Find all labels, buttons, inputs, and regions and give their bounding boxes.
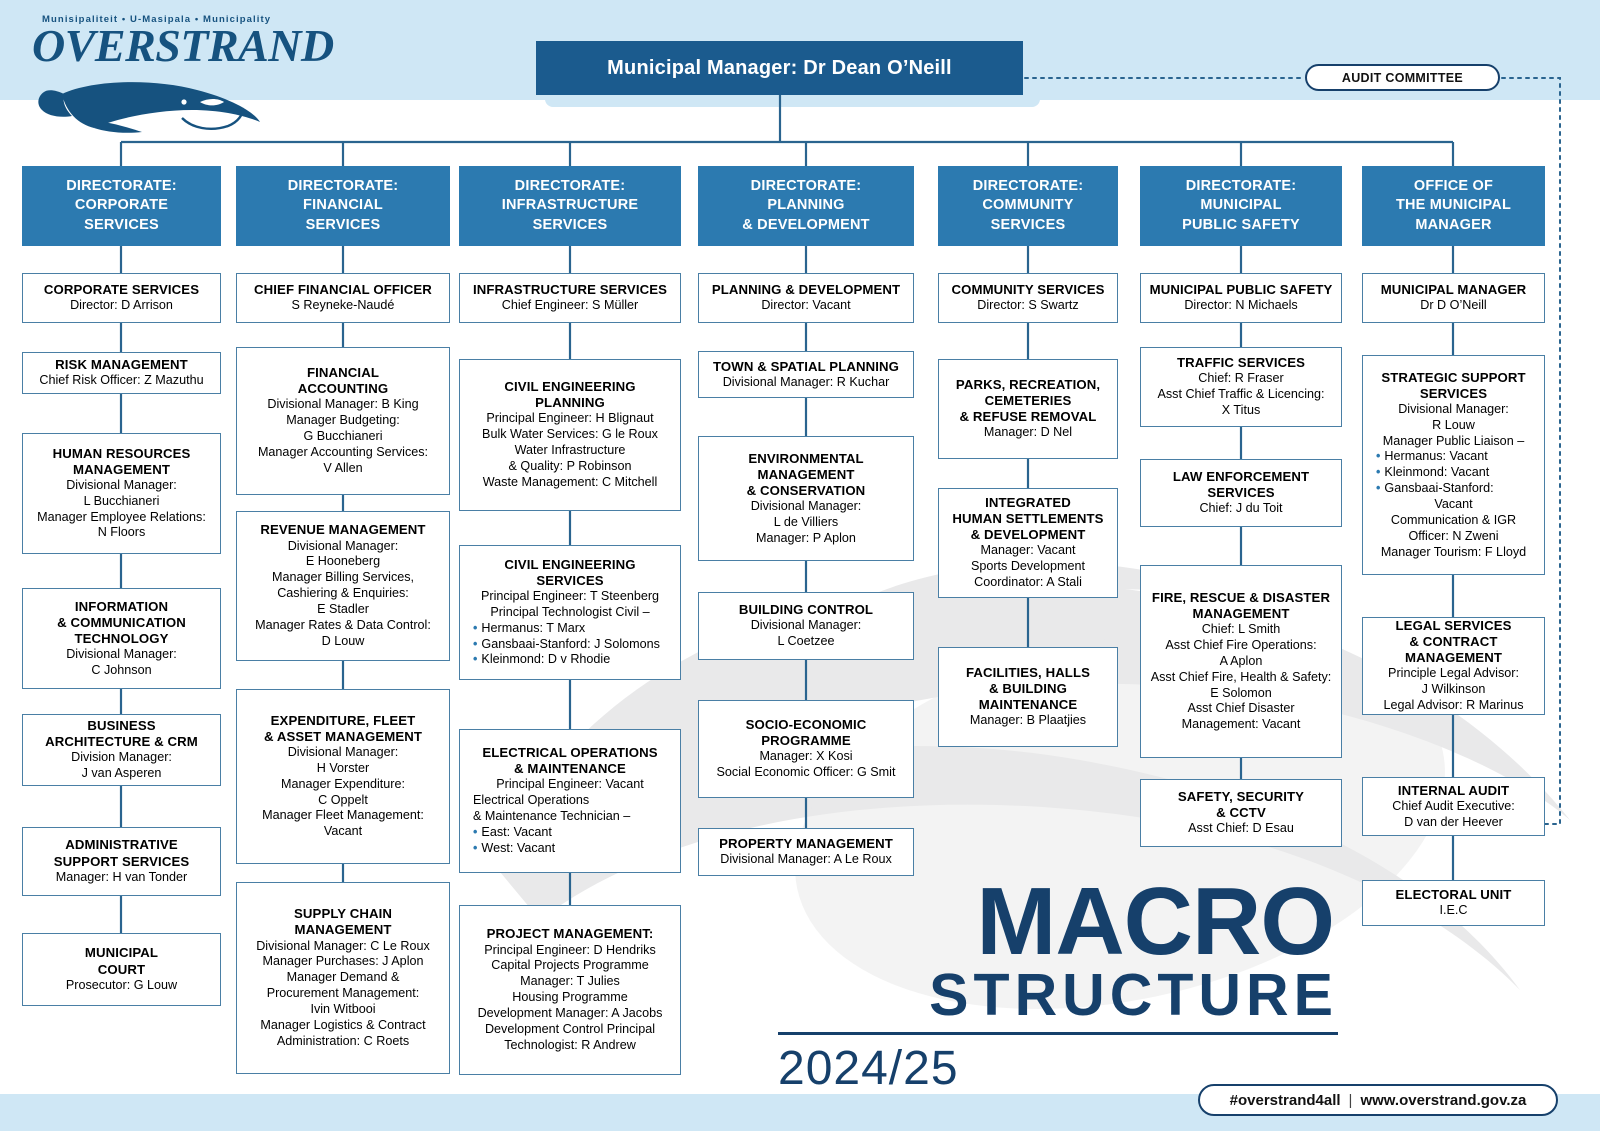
org-node[interactable]: INFORMATION& COMMUNICATIONTECHNOLOGYDivi… (22, 588, 221, 689)
node-detail: Divisional Manager: (705, 618, 907, 634)
node-title: FINANCIALACCOUNTING (243, 365, 443, 397)
node-detail: Asst Chief Fire, Health & Safety: (1147, 670, 1335, 686)
node-detail: Divisional Manager: A Le Roux (705, 852, 907, 868)
org-node[interactable]: RISK MANAGEMENTChief Risk Officer: Z Maz… (22, 352, 221, 394)
org-node[interactable]: BUSINESSARCHITECTURE & CRMDivision Manag… (22, 714, 221, 786)
node-title: BUILDING CONTROL (705, 602, 907, 618)
node-title: TOWN & SPATIAL PLANNING (705, 359, 907, 375)
org-node[interactable]: CHIEF FINANCIAL OFFICERS Reyneke-Naudé (236, 273, 450, 323)
directorate-header-planning-development[interactable]: DIRECTORATE:PLANNING& DEVELOPMENT (698, 166, 914, 246)
node-title: BUSINESSARCHITECTURE & CRM (29, 718, 214, 750)
node-title: STRATEGIC SUPPORTSERVICES (1369, 370, 1538, 402)
node-detail: Ivin Witbooi (243, 1002, 443, 1018)
node-bullet-item: West: Vacant (473, 841, 674, 857)
node-detail: Director: N Michaels (1147, 298, 1335, 314)
node-detail: S Reyneke-Naudé (243, 298, 443, 314)
org-node[interactable]: FINANCIALACCOUNTINGDivisional Manager: B… (236, 347, 450, 495)
node-detail: Principal Technologist Civil – (466, 605, 674, 621)
directorate-header-infrastructure-services[interactable]: DIRECTORATE:INFRASTRUCTURESERVICES (459, 166, 681, 246)
directorate-header-office-municipal-manager[interactable]: OFFICE OFTHE MUNICIPALMANAGER (1362, 166, 1545, 246)
node-detail: Manager Logistics & Contract (243, 1018, 443, 1034)
node-title: SUPPLY CHAINMANAGEMENT (243, 906, 443, 938)
org-node[interactable]: INFRASTRUCTURE SERVICESChief Engineer: S… (459, 273, 681, 323)
org-node[interactable]: BUILDING CONTROLDivisional Manager:L Coe… (698, 592, 914, 660)
node-detail: Asst Chief Disaster (1147, 701, 1335, 717)
org-node[interactable]: TRAFFIC SERVICESChief: R FraserAsst Chie… (1140, 347, 1342, 427)
node-detail: E Hooneberg (243, 554, 443, 570)
node-title: LAW ENFORCEMENTSERVICES (1147, 469, 1335, 501)
org-node[interactable]: LEGAL SERVICES& CONTRACTMANAGEMENTPrinci… (1362, 617, 1545, 715)
dir-label: DIRECTORATE:CORPORATESERVICES (66, 177, 177, 234)
node-title: CORPORATE SERVICES (29, 282, 214, 298)
org-node[interactable]: CIVIL ENGINEERINGPLANNINGPrincipal Engin… (459, 359, 681, 511)
node-detail: Manager: P Aplon (705, 531, 907, 547)
org-node[interactable]: FIRE, RESCUE & DISASTERMANAGEMENTChief: … (1140, 565, 1342, 758)
node-detail: & Quality: P Robinson (466, 459, 674, 475)
node-detail: Manager Purchases: J Aplon (243, 954, 443, 970)
node-detail: Principal Engineer: T Steenberg (466, 589, 674, 605)
node-detail: Director: D Arrison (29, 298, 214, 314)
node-detail: Bulk Water Services: G le Roux (466, 427, 674, 443)
node-title: FACILITIES, HALLS& BUILDINGMAINTENANCE (945, 665, 1111, 713)
org-node[interactable]: ADMINISTRATIVESUPPORT SERVICESManager: H… (22, 827, 221, 896)
macro-structure-poster: Munisipaliteit • U-Masipala • Municipali… (0, 0, 1600, 1131)
org-node[interactable]: HUMAN RESOURCESMANAGEMENTDivisional Mana… (22, 433, 221, 554)
node-detail: Dr D O’Neill (1369, 298, 1538, 314)
node-title: CIVIL ENGINEERINGSERVICES (466, 557, 674, 589)
node-detail: Divisional Manager: (29, 478, 214, 494)
node-detail: Prosecutor: G Louw (29, 978, 214, 994)
node-detail: E Stadler (243, 602, 443, 618)
dir-label: OFFICE OFTHE MUNICIPALMANAGER (1396, 177, 1511, 234)
dir-label: DIRECTORATE:FINANCIALSERVICES (288, 177, 399, 234)
node-detail: Asst Chief Fire Operations: (1147, 638, 1335, 654)
node-title: PARKS, RECREATION,CEMETERIES& REFUSE REM… (945, 377, 1111, 425)
node-detail: Divisional Manager: (243, 539, 443, 555)
org-node[interactable]: INTEGRATEDHUMAN SETTLEMENTS& DEVELOPMENT… (938, 488, 1118, 598)
node-bullets: Hermanus: T MarxGansbaai-Stanford: J Sol… (466, 621, 674, 669)
org-node[interactable]: CIVIL ENGINEERINGSERVICESPrincipal Engin… (459, 545, 681, 680)
org-node[interactable]: PLANNING & DEVELOPMENTDirector: Vacant (698, 273, 914, 323)
org-node[interactable]: FACILITIES, HALLS& BUILDINGMAINTENANCEMa… (938, 647, 1118, 747)
node-detail: Cashiering & Enquiries: (243, 586, 443, 602)
node-detail: Chief Audit Executive: (1369, 799, 1538, 815)
node-detail: Vacant (1369, 497, 1538, 513)
org-node[interactable]: ELECTRICAL OPERATIONS& MAINTENANCEPrinci… (459, 729, 681, 873)
node-detail: Divisional Manager: C Le Roux (243, 939, 443, 955)
footer-separator: | (1349, 1092, 1353, 1109)
node-detail: R Louw (1369, 418, 1538, 434)
footer-contact-pill[interactable]: #overstrand4all | www.overstrand.gov.za (1198, 1084, 1558, 1116)
node-bullet-item: Hermanus: Vacant (1376, 449, 1538, 465)
node-bullet-item: Kleinmond: Vacant (1376, 465, 1538, 481)
node-detail: E Solomon (1147, 686, 1335, 702)
dir-label: DIRECTORATE:PLANNING& DEVELOPMENT (742, 177, 869, 234)
org-node[interactable]: REVENUE MANAGEMENTDivisional Manager:E H… (236, 511, 450, 661)
node-title: ADMINISTRATIVESUPPORT SERVICES (29, 837, 214, 869)
directorate-header-municipal-public-safety[interactable]: DIRECTORATE:MUNICIPALPUBLIC SAFETY (1140, 166, 1342, 246)
node-title: RISK MANAGEMENT (29, 357, 214, 373)
overstrand-logo: Munisipaliteit • U-Masipala • Municipali… (32, 14, 312, 129)
org-node[interactable]: SUPPLY CHAINMANAGEMENTDivisional Manager… (236, 882, 450, 1074)
node-detail: Manager Public Liaison – (1369, 434, 1538, 450)
org-node[interactable]: EXPENDITURE, FLEET& ASSET MANAGEMENTDivi… (236, 689, 450, 864)
node-detail: Waste Management: C Mitchell (466, 475, 674, 491)
org-node[interactable]: MUNICIPALCOURTProsecutor: G Louw (22, 933, 221, 1006)
node-detail: Manager: Vacant (945, 543, 1111, 559)
node-detail: Social Economic Officer: G Smit (705, 765, 907, 781)
logo-wordmark: OVERSTRAND (32, 23, 312, 69)
node-detail: Electrical Operations (466, 793, 674, 809)
org-node[interactable]: LAW ENFORCEMENTSERVICESChief: J du Toit (1140, 459, 1342, 527)
org-node[interactable]: TOWN & SPATIAL PLANNINGDivisional Manage… (698, 351, 914, 398)
org-node[interactable]: MUNICIPAL MANAGERDr D O’Neill (1362, 273, 1545, 323)
node-title: FIRE, RESCUE & DISASTERMANAGEMENT (1147, 590, 1335, 622)
node-title: ENVIRONMENTALMANAGEMENT& CONSERVATION (705, 451, 907, 499)
node-detail: Asst Chief: D Esau (1147, 821, 1335, 837)
node-detail: Divisional Manager: (705, 499, 907, 515)
node-detail: Chief: J du Toit (1147, 501, 1335, 517)
node-title: SOCIO-ECONOMICPROGRAMME (705, 717, 907, 749)
org-node[interactable]: STRATEGIC SUPPORTSERVICESDivisional Mana… (1362, 355, 1545, 575)
node-title: CIVIL ENGINEERINGPLANNING (466, 379, 674, 411)
node-detail: Manager Budgeting: (243, 413, 443, 429)
node-title: MUNICIPAL PUBLIC SAFETY (1147, 282, 1335, 298)
node-detail: A Aplon (1147, 654, 1335, 670)
node-detail: Chief: L Smith (1147, 622, 1335, 638)
org-node[interactable]: ELECTORAL UNITI.E.C (1362, 880, 1545, 926)
node-title: EXPENDITURE, FLEET& ASSET MANAGEMENT (243, 713, 443, 745)
node-detail: D van der Heever (1369, 815, 1538, 831)
node-detail: Manager: B Plaatjies (945, 713, 1111, 729)
node-detail: V Allen (243, 461, 443, 477)
node-detail: Sports Development (945, 559, 1111, 575)
node-title: PLANNING & DEVELOPMENT (705, 282, 907, 298)
node-detail: Chief Risk Officer: Z Mazuthu (29, 373, 214, 389)
node-detail: L Coetzee (705, 634, 907, 650)
node-detail: Divisional Manager: (1369, 402, 1538, 418)
node-title: LEGAL SERVICES& CONTRACTMANAGEMENT (1369, 618, 1538, 666)
hashtag-label: #overstrand4all (1230, 1092, 1341, 1109)
org-node[interactable]: PROJECT MANAGEMENT:Principal Engineer: D… (459, 905, 681, 1075)
node-detail: Asst Chief Traffic & Licencing: (1147, 387, 1335, 403)
node-detail: Manager: X Kosi (705, 749, 907, 765)
node-detail: Manager Rates & Data Control: (243, 618, 443, 634)
org-node[interactable]: MUNICIPAL PUBLIC SAFETYDirector: N Micha… (1140, 273, 1342, 323)
org-node[interactable]: CORPORATE SERVICESDirector: D Arrison (22, 273, 221, 323)
node-detail: Manager: H van Tonder (29, 870, 214, 886)
node-detail: Divisional Manager: R Kuchar (705, 375, 907, 391)
node-detail: Divisional Manager: (29, 647, 214, 663)
org-node[interactable]: SOCIO-ECONOMICPROGRAMMEManager: X KosiSo… (698, 700, 914, 798)
node-detail: Manager Expenditure: (243, 777, 443, 793)
node-title: ELECTRICAL OPERATIONS& MAINTENANCE (466, 745, 674, 777)
node-title: PROPERTY MANAGEMENT (705, 836, 907, 852)
node-detail: Chief: R Fraser (1147, 371, 1335, 387)
node-detail: Principle Legal Advisor: (1369, 666, 1538, 682)
node-detail: X Titus (1147, 403, 1335, 419)
node-detail: Technologist: R Andrew (466, 1038, 674, 1054)
node-detail: I.E.C (1369, 903, 1538, 919)
node-detail: C Oppelt (243, 793, 443, 809)
dir-label: DIRECTORATE:MUNICIPALPUBLIC SAFETY (1182, 177, 1300, 234)
node-detail: G Bucchianeri (243, 429, 443, 445)
node-detail: L Bucchianeri (29, 494, 214, 510)
node-title: MUNICIPALCOURT (29, 945, 214, 977)
node-title: REVENUE MANAGEMENT (243, 522, 443, 538)
node-detail: Manager: D Nel (945, 425, 1111, 441)
node-detail: Manager Billing Services, (243, 570, 443, 586)
node-detail: Chief Engineer: S Müller (466, 298, 674, 314)
node-detail: Manager Accounting Services: (243, 445, 443, 461)
node-detail: Development Control Principal (466, 1022, 674, 1038)
node-title: TRAFFIC SERVICES (1147, 355, 1335, 371)
node-title: COMMUNITY SERVICES (945, 282, 1111, 298)
node-detail: C Johnson (29, 663, 214, 679)
node-detail: Manager Demand & (243, 970, 443, 986)
node-bullet-item: Kleinmond: D v Rhodie (473, 652, 674, 668)
node-title: MUNICIPAL MANAGER (1369, 282, 1538, 298)
node-title: INTEGRATEDHUMAN SETTLEMENTS& DEVELOPMENT (945, 495, 1111, 543)
dir-label: DIRECTORATE:INFRASTRUCTURESERVICES (502, 177, 639, 234)
node-title: ELECTORAL UNIT (1369, 887, 1538, 903)
node-title: INFORMATION& COMMUNICATIONTECHNOLOGY (29, 599, 214, 647)
node-title: CHIEF FINANCIAL OFFICER (243, 282, 443, 298)
node-detail: Administration: C Roets (243, 1034, 443, 1050)
node-detail: Manager: T Julies (466, 974, 674, 990)
node-detail: Division Manager: (29, 750, 214, 766)
node-detail: Officer: N Zweni (1369, 529, 1538, 545)
node-detail: Capital Projects Programme (466, 958, 674, 974)
macro-structure-branding: MACRO STRUCTURE 2024/25 (778, 878, 1338, 1096)
whale-icon (32, 66, 282, 136)
node-detail: Director: S Swartz (945, 298, 1111, 314)
node-detail: Procurement Management: (243, 986, 443, 1002)
node-detail: Development Manager: A Jacobs (466, 1006, 674, 1022)
node-detail: Director: Vacant (705, 298, 907, 314)
node-detail: Housing Programme (466, 990, 674, 1006)
structure-word: STRUCTURE (778, 966, 1338, 1025)
node-detail: H Vorster (243, 761, 443, 777)
node-title: INFRASTRUCTURE SERVICES (466, 282, 674, 298)
node-title: SAFETY, SECURITY& CCTV (1147, 789, 1335, 821)
node-title: INTERNAL AUDIT (1369, 783, 1538, 799)
node-detail: J van Asperen (29, 766, 214, 782)
org-node[interactable]: SAFETY, SECURITY& CCTVAsst Chief: D Esau (1140, 779, 1342, 847)
node-detail: Management: Vacant (1147, 717, 1335, 733)
macro-word: MACRO (778, 878, 1338, 966)
branding-divider (778, 1032, 1338, 1035)
org-node[interactable]: INTERNAL AUDITChief Audit Executive:D va… (1362, 777, 1545, 836)
node-detail: Water Infrastructure (466, 443, 674, 459)
node-bullet-item: Gansbaai-Stanford: J Solomons (473, 637, 674, 653)
node-detail: Manager Fleet Management: (243, 808, 443, 824)
website-label: www.overstrand.gov.za (1360, 1092, 1526, 1109)
node-detail: Coordinator: A Stali (945, 575, 1111, 591)
node-bullet-item: Hermanus: T Marx (473, 621, 674, 637)
municipal-manager-box[interactable]: Municipal Manager: Dr Dean O’Neill (536, 41, 1023, 95)
dir-label: DIRECTORATE:COMMUNITYSERVICES (973, 177, 1084, 234)
node-bullets: East: VacantWest: Vacant (466, 825, 674, 857)
directorate-header-corporate-services[interactable]: DIRECTORATE:CORPORATESERVICES (22, 166, 221, 246)
node-detail: D Louw (243, 634, 443, 650)
org-node[interactable]: PROPERTY MANAGEMENTDivisional Manager: A… (698, 828, 914, 876)
node-bullets: Hermanus: VacantKleinmond: VacantGansbaa… (1369, 449, 1538, 497)
node-detail: Divisional Manager: (243, 745, 443, 761)
directorate-header-community-services[interactable]: DIRECTORATE:COMMUNITYSERVICES (938, 166, 1118, 246)
node-detail: Principal Engineer: H Blignaut (466, 411, 674, 427)
node-detail: Principal Engineer: Vacant (466, 777, 674, 793)
node-detail: & Maintenance Technician – (466, 809, 674, 825)
directorate-header-financial-services[interactable]: DIRECTORATE:FINANCIALSERVICES (236, 166, 450, 246)
node-detail: J Wilkinson (1369, 682, 1538, 698)
org-node[interactable]: PARKS, RECREATION,CEMETERIES& REFUSE REM… (938, 359, 1118, 459)
node-detail: Divisional Manager: B King (243, 397, 443, 413)
node-title: HUMAN RESOURCESMANAGEMENT (29, 446, 214, 478)
org-node[interactable]: COMMUNITY SERVICESDirector: S Swartz (938, 273, 1118, 323)
node-detail: Vacant (243, 824, 443, 840)
node-detail: Legal Advisor: R Marinus (1369, 698, 1538, 714)
node-detail: Manager Employee Relations: (29, 510, 214, 526)
node-detail: Manager Tourism: F Lloyd (1369, 545, 1538, 561)
node-bullet-item: Gansbaai-Stanford: (1376, 481, 1538, 497)
node-detail: N Floors (29, 525, 214, 541)
node-detail: Principal Engineer: D Hendriks (466, 943, 674, 959)
node-bullet-item: East: Vacant (473, 825, 674, 841)
org-node[interactable]: ENVIRONMENTALMANAGEMENT& CONSERVATIONDiv… (698, 436, 914, 561)
audit-committee-box[interactable]: AUDIT COMMITTEE (1305, 64, 1500, 91)
node-title: PROJECT MANAGEMENT: (466, 926, 674, 942)
node-detail: Communication & IGR (1369, 513, 1538, 529)
node-detail: L de Villiers (705, 515, 907, 531)
